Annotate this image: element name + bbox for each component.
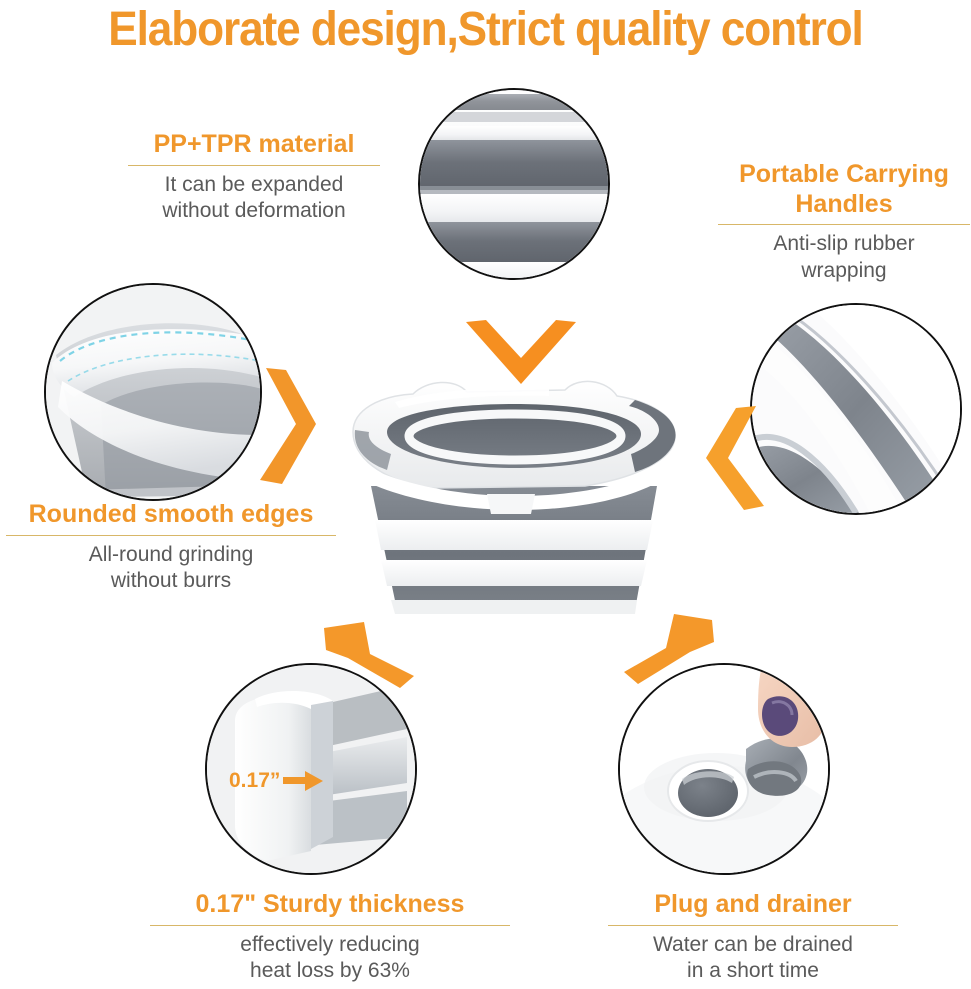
feature-image-thickness: 0.17”: [205, 663, 417, 875]
feature-image-material: [418, 88, 610, 280]
heading-underline: [608, 925, 898, 926]
desc-line-1: It can be expanded: [128, 172, 380, 199]
feature-heading-handles: Portable Carrying Handles: [718, 160, 970, 219]
feature-block-material: PP+TPR material It can be expanded witho…: [128, 130, 380, 225]
feature-description-edges: All-round grinding without burrs: [6, 542, 336, 596]
handle-band-photo: [752, 305, 962, 515]
feature-image-plug: [618, 663, 830, 875]
thickness-callout-text: 0.17”: [229, 769, 280, 792]
feature-image-edges: [44, 283, 262, 501]
drain-plug-photo: [620, 665, 830, 875]
feature-heading-edges: Rounded smooth edges: [6, 500, 336, 530]
desc-line-2: without deformation: [128, 198, 380, 225]
feature-heading-material: PP+TPR material: [128, 130, 380, 160]
heading-underline: [718, 224, 970, 225]
chevron-down-icon: [462, 318, 580, 386]
desc-line-1: Anti-slip rubber: [718, 231, 970, 258]
chevron-left-icon: [694, 402, 772, 514]
desc-line-2: without burrs: [6, 568, 336, 595]
desc-line-1: All-round grinding: [6, 542, 336, 569]
feature-image-handles: [750, 303, 962, 515]
feature-description-thickness: effectively reducing heat loss by 63%: [150, 932, 510, 986]
collapsible-basket-illustration: [335, 374, 693, 626]
heading-underline: [6, 535, 336, 536]
feature-block-plug: Plug and drainer Water can be drained in…: [608, 890, 898, 985]
chevron-right-icon: [252, 362, 332, 490]
desc-line-2: wrapping: [718, 258, 970, 285]
chevron-down-svg: [462, 318, 580, 386]
rounded-edge-photo: [46, 285, 262, 501]
feature-block-handles: Portable Carrying Handles Anti-slip rubb…: [718, 160, 970, 285]
stripes-svg: [418, 88, 610, 280]
heading-underline: [128, 165, 380, 166]
striped-material-photo: [418, 88, 610, 280]
page-title: Elaborate design,Strict quality control: [39, 2, 932, 57]
chevron-left-svg: [694, 402, 772, 514]
desc-line-2: in a short time: [608, 958, 898, 985]
feature-block-edges: Rounded smooth edges All-round grinding …: [6, 500, 336, 595]
feature-description-handles: Anti-slip rubber wrapping: [718, 231, 970, 285]
feature-heading-plug: Plug and drainer: [608, 890, 898, 920]
desc-line-2: heat loss by 63%: [150, 958, 510, 985]
product-image: [335, 374, 693, 626]
desc-line-1: Water can be drained: [608, 932, 898, 959]
chevron-right-svg: [252, 362, 332, 490]
feature-description-material: It can be expanded without deformation: [128, 172, 380, 226]
feature-heading-thickness: 0.17" Sturdy thickness: [150, 890, 510, 920]
feature-description-plug: Water can be drained in a short time: [608, 932, 898, 986]
feature-block-thickness: 0.17" Sturdy thickness effectively reduc…: [150, 890, 510, 985]
heading-underline: [150, 925, 510, 926]
desc-line-1: effectively reducing: [150, 932, 510, 959]
thickness-photo: 0.17”: [207, 665, 417, 875]
infographic-page: Elaborate design,Strict quality control: [0, 0, 971, 989]
